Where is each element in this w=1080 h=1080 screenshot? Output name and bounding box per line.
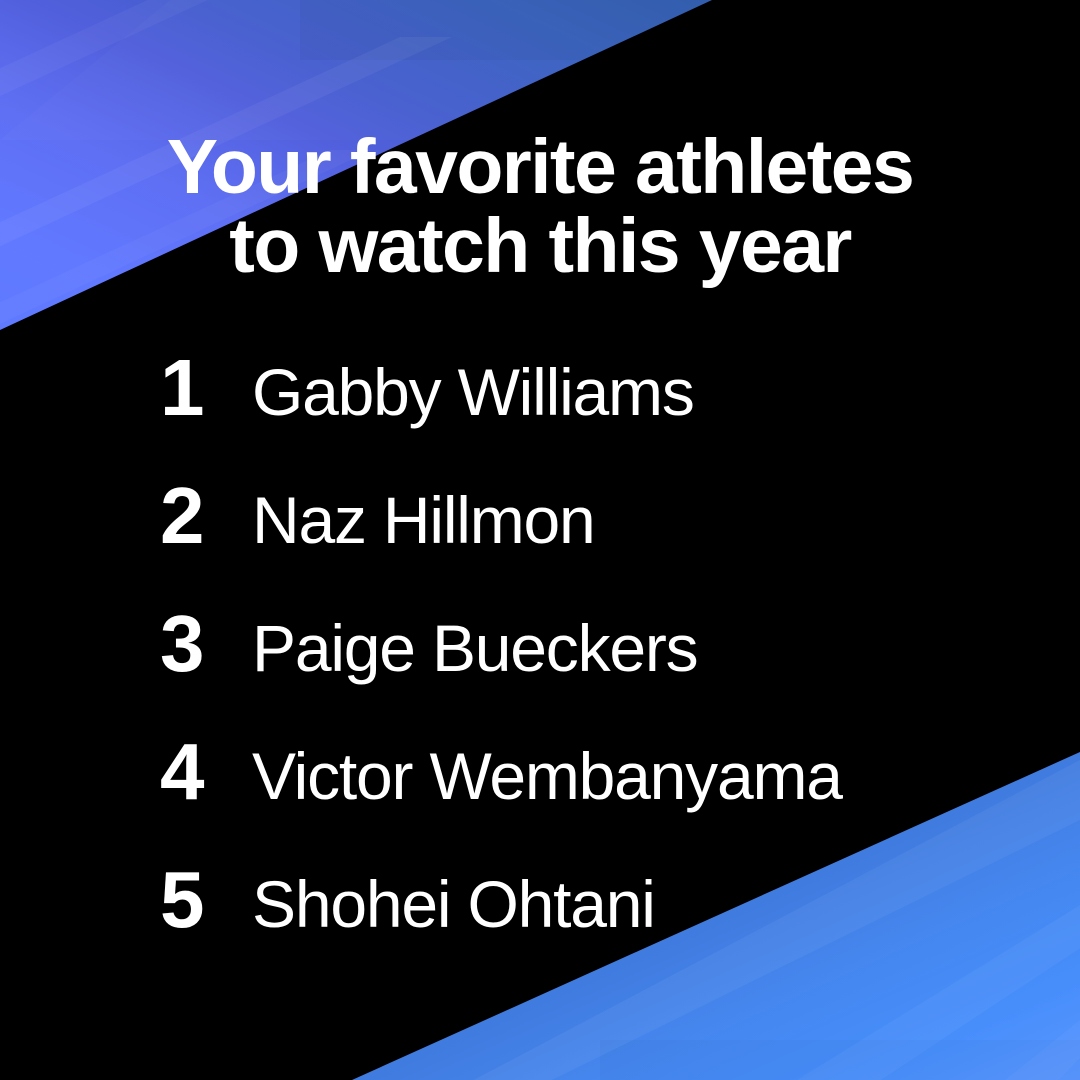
rank-number: 2 — [160, 476, 252, 556]
page-title: Your favorite athletes to watch this yea… — [0, 128, 1080, 286]
list-item: 4 Victor Wembanyama — [160, 732, 842, 860]
title-line-2: to watch this year — [0, 207, 1080, 286]
rank-number: 5 — [160, 860, 252, 940]
athlete-name: Victor Wembanyama — [252, 736, 842, 816]
athlete-name: Naz Hillmon — [252, 480, 595, 560]
list-item: 5 Shohei Ohtani — [160, 860, 842, 988]
athlete-ranked-list: 1 Gabby Williams 2 Naz Hillmon 3 Paige B… — [160, 348, 842, 988]
rank-number: 4 — [160, 732, 252, 812]
rank-number: 3 — [160, 604, 252, 684]
list-item: 2 Naz Hillmon — [160, 476, 842, 604]
poster-canvas: Your favorite athletes to watch this yea… — [0, 0, 1080, 1080]
rank-number: 1 — [160, 348, 252, 428]
list-item: 1 Gabby Williams — [160, 348, 842, 476]
athlete-name: Paige Bueckers — [252, 608, 697, 688]
list-item: 3 Paige Bueckers — [160, 604, 842, 732]
title-line-1: Your favorite athletes — [0, 128, 1080, 207]
athlete-name: Shohei Ohtani — [252, 864, 655, 944]
athlete-name: Gabby Williams — [252, 352, 694, 432]
